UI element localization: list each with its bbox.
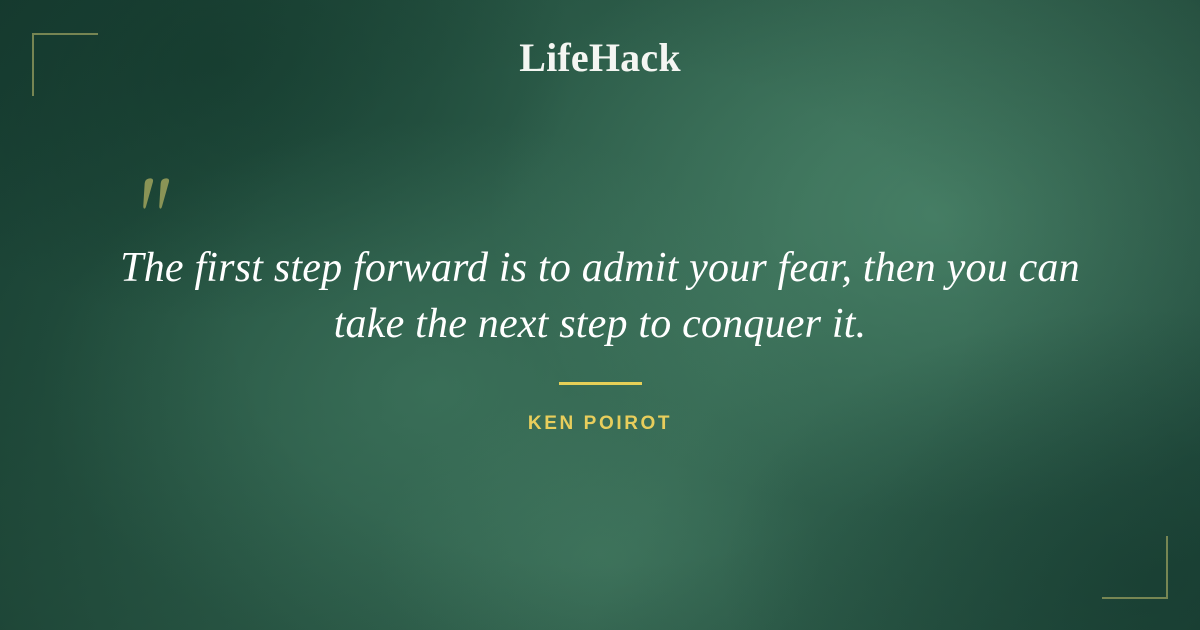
quote-body: The first step forward is to admit your … — [100, 240, 1100, 352]
corner-bracket-bottom-right-icon — [1102, 536, 1168, 599]
quote-card: LifeHack The first step forward is to ad… — [0, 0, 1200, 630]
attribution-divider — [559, 382, 642, 385]
quote-line-1: The first step forward is to admit your … — [100, 240, 1100, 296]
quotation-mark-icon — [133, 157, 189, 217]
brand-logo-lifehack: LifeHack — [0, 36, 1200, 80]
quote-line-2: take the next step to conquer it. — [100, 296, 1100, 352]
quote-author: KEN POIROT — [0, 413, 1200, 435]
